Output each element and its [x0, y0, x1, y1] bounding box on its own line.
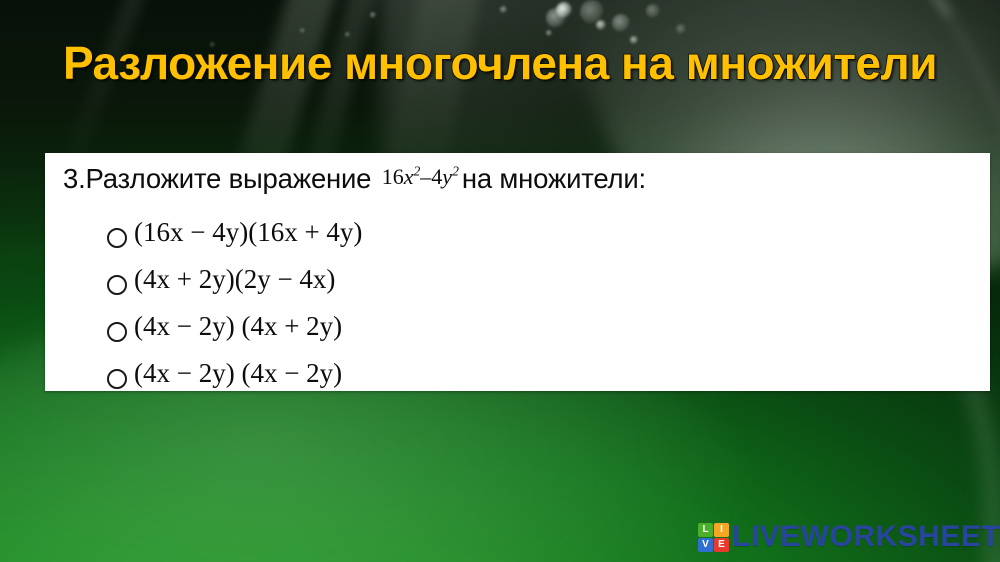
- formula-exponent-2: 2: [452, 164, 459, 179]
- formula-coefficient-2: 4: [431, 164, 442, 189]
- answer-option-2[interactable]: (4x + 2y)(2y − 4x): [107, 256, 362, 303]
- answer-options-list: (16x − 4y)(16x + 4y) (4x + 2y)(2y − 4x) …: [107, 209, 362, 397]
- answer-option-3[interactable]: (4x − 2y) (4x + 2y): [107, 303, 362, 350]
- answer-option-label: (4x − 2y) (4x + 2y): [134, 311, 342, 342]
- logo-wordmark: LIVEWORKSHEETS: [732, 522, 1000, 552]
- bokeh-dot: [546, 8, 566, 28]
- radio-button-icon[interactable]: [107, 369, 127, 389]
- answer-option-label: (16x − 4y)(16x + 4y): [134, 217, 362, 248]
- bokeh-dot: [370, 12, 376, 18]
- bokeh-dot: [500, 6, 507, 13]
- liveworksheets-logo[interactable]: L I V E LIVEWORKSHEETS: [698, 522, 1000, 552]
- answer-option-label: (4x − 2y) (4x − 2y): [134, 358, 342, 389]
- radio-button-icon[interactable]: [107, 322, 127, 342]
- bokeh-dot: [646, 4, 660, 18]
- formula-variable-2: y: [442, 164, 452, 189]
- question-card: 3.Разложите выражение 16x2–4y2на множите…: [45, 153, 990, 391]
- logo-tile-l: L: [698, 523, 713, 537]
- answer-option-label: (4x + 2y)(2y − 4x): [134, 264, 335, 295]
- logo-tile-v: V: [698, 538, 713, 552]
- formula-operator: –: [420, 164, 431, 189]
- slide-canvas: Разложение многочлена на множители 3.Раз…: [0, 0, 1000, 562]
- question-formula: 16x2–4y2: [379, 164, 462, 189]
- bokeh-dot: [676, 24, 686, 34]
- answer-option-1[interactable]: (16x − 4y)(16x + 4y): [107, 209, 362, 256]
- question-text-after: на множители:: [462, 163, 646, 194]
- logo-tile-grid: L I V E: [698, 523, 729, 552]
- bokeh-dot: [580, 0, 604, 24]
- answer-option-4[interactable]: (4x − 2y) (4x − 2y): [107, 350, 362, 397]
- logo-tile-i: I: [714, 523, 729, 537]
- page-title: Разложение многочлена на множители: [0, 36, 1000, 90]
- question-text-before: Разложите выражение: [86, 163, 379, 194]
- radio-button-icon[interactable]: [107, 275, 127, 295]
- question-number: 3.: [63, 163, 86, 194]
- logo-tile-e: E: [714, 538, 729, 552]
- bokeh-dot: [612, 14, 630, 32]
- radio-button-icon[interactable]: [107, 228, 127, 248]
- question-line: 3.Разложите выражение 16x2–4y2на множите…: [63, 163, 984, 195]
- formula-coefficient-1: 16: [382, 164, 404, 189]
- bokeh-dot: [300, 28, 305, 33]
